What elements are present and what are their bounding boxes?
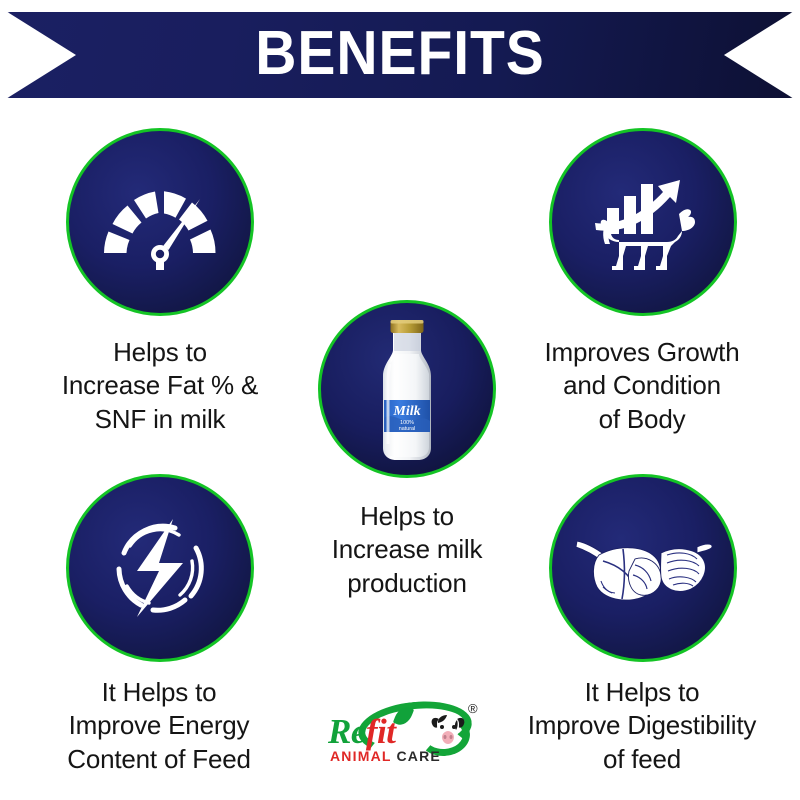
logo-tagline: ANIMAL CARE bbox=[330, 748, 441, 764]
benefit-icon-circle-fat-snf bbox=[66, 128, 254, 316]
brand-logo: Refit ® ANIMAL CARE bbox=[322, 700, 490, 770]
benefit-caption-milk-production: Helps to Increase milk production bbox=[292, 500, 522, 600]
caption-line: SNF in milk bbox=[10, 403, 310, 436]
milk-bottle-icon: Milk 100% natural bbox=[366, 314, 448, 464]
cow-growth-chart-icon bbox=[579, 166, 707, 278]
caption-line: Helps to bbox=[10, 336, 310, 369]
milk-label-title: Milk bbox=[392, 404, 420, 419]
digestive-tract-icon bbox=[573, 525, 713, 611]
benefit-icon-circle-milk-production: Milk 100% natural bbox=[318, 300, 496, 478]
page-title: BENEFITS bbox=[32, 12, 768, 98]
logo-word-fit: fit bbox=[366, 712, 396, 751]
lightning-bolt-icon bbox=[97, 505, 223, 631]
benefit-caption-energy-feed: It Helps to Improve Energy Content of Fe… bbox=[8, 676, 310, 776]
benefit-caption-digestibility-feed: It Helps to Improve Digestibility of fee… bbox=[488, 676, 796, 776]
header-banner: BENEFITS bbox=[0, 12, 800, 98]
caption-line: It Helps to bbox=[8, 676, 310, 709]
logo-tagline-animal: ANIMAL bbox=[330, 748, 391, 764]
benefit-icon-circle-digestibility-feed bbox=[549, 474, 737, 662]
caption-line: It Helps to bbox=[488, 676, 796, 709]
caption-line: Increase milk bbox=[292, 533, 522, 566]
benefit-caption-fat-snf: Helps to Increase Fat % & SNF in milk bbox=[10, 336, 310, 436]
caption-line: Improve Digestibility bbox=[488, 709, 796, 742]
logo-tagline-care: CARE bbox=[396, 748, 440, 764]
caption-line: Improve Energy bbox=[8, 709, 310, 742]
caption-line: of feed bbox=[488, 743, 796, 776]
milk-label-subtitle: natural bbox=[399, 426, 415, 432]
caption-line: Increase Fat % & bbox=[10, 369, 310, 402]
caption-line: and Condition bbox=[492, 369, 792, 402]
gauge-icon bbox=[96, 167, 224, 277]
benefit-icon-circle-energy-feed bbox=[66, 474, 254, 662]
caption-line: Content of Feed bbox=[8, 743, 310, 776]
caption-line: production bbox=[292, 567, 522, 600]
logo-wordmark: Refit bbox=[328, 714, 396, 749]
registered-trademark-icon: ® bbox=[468, 701, 478, 716]
caption-line: of Body bbox=[492, 403, 792, 436]
benefit-icon-circle-growth-body bbox=[549, 128, 737, 316]
caption-line: Helps to bbox=[292, 500, 522, 533]
logo-word-re: Re bbox=[328, 712, 366, 751]
caption-line: Improves Growth bbox=[492, 336, 792, 369]
benefit-caption-growth-body: Improves Growth and Condition of Body bbox=[492, 336, 792, 436]
